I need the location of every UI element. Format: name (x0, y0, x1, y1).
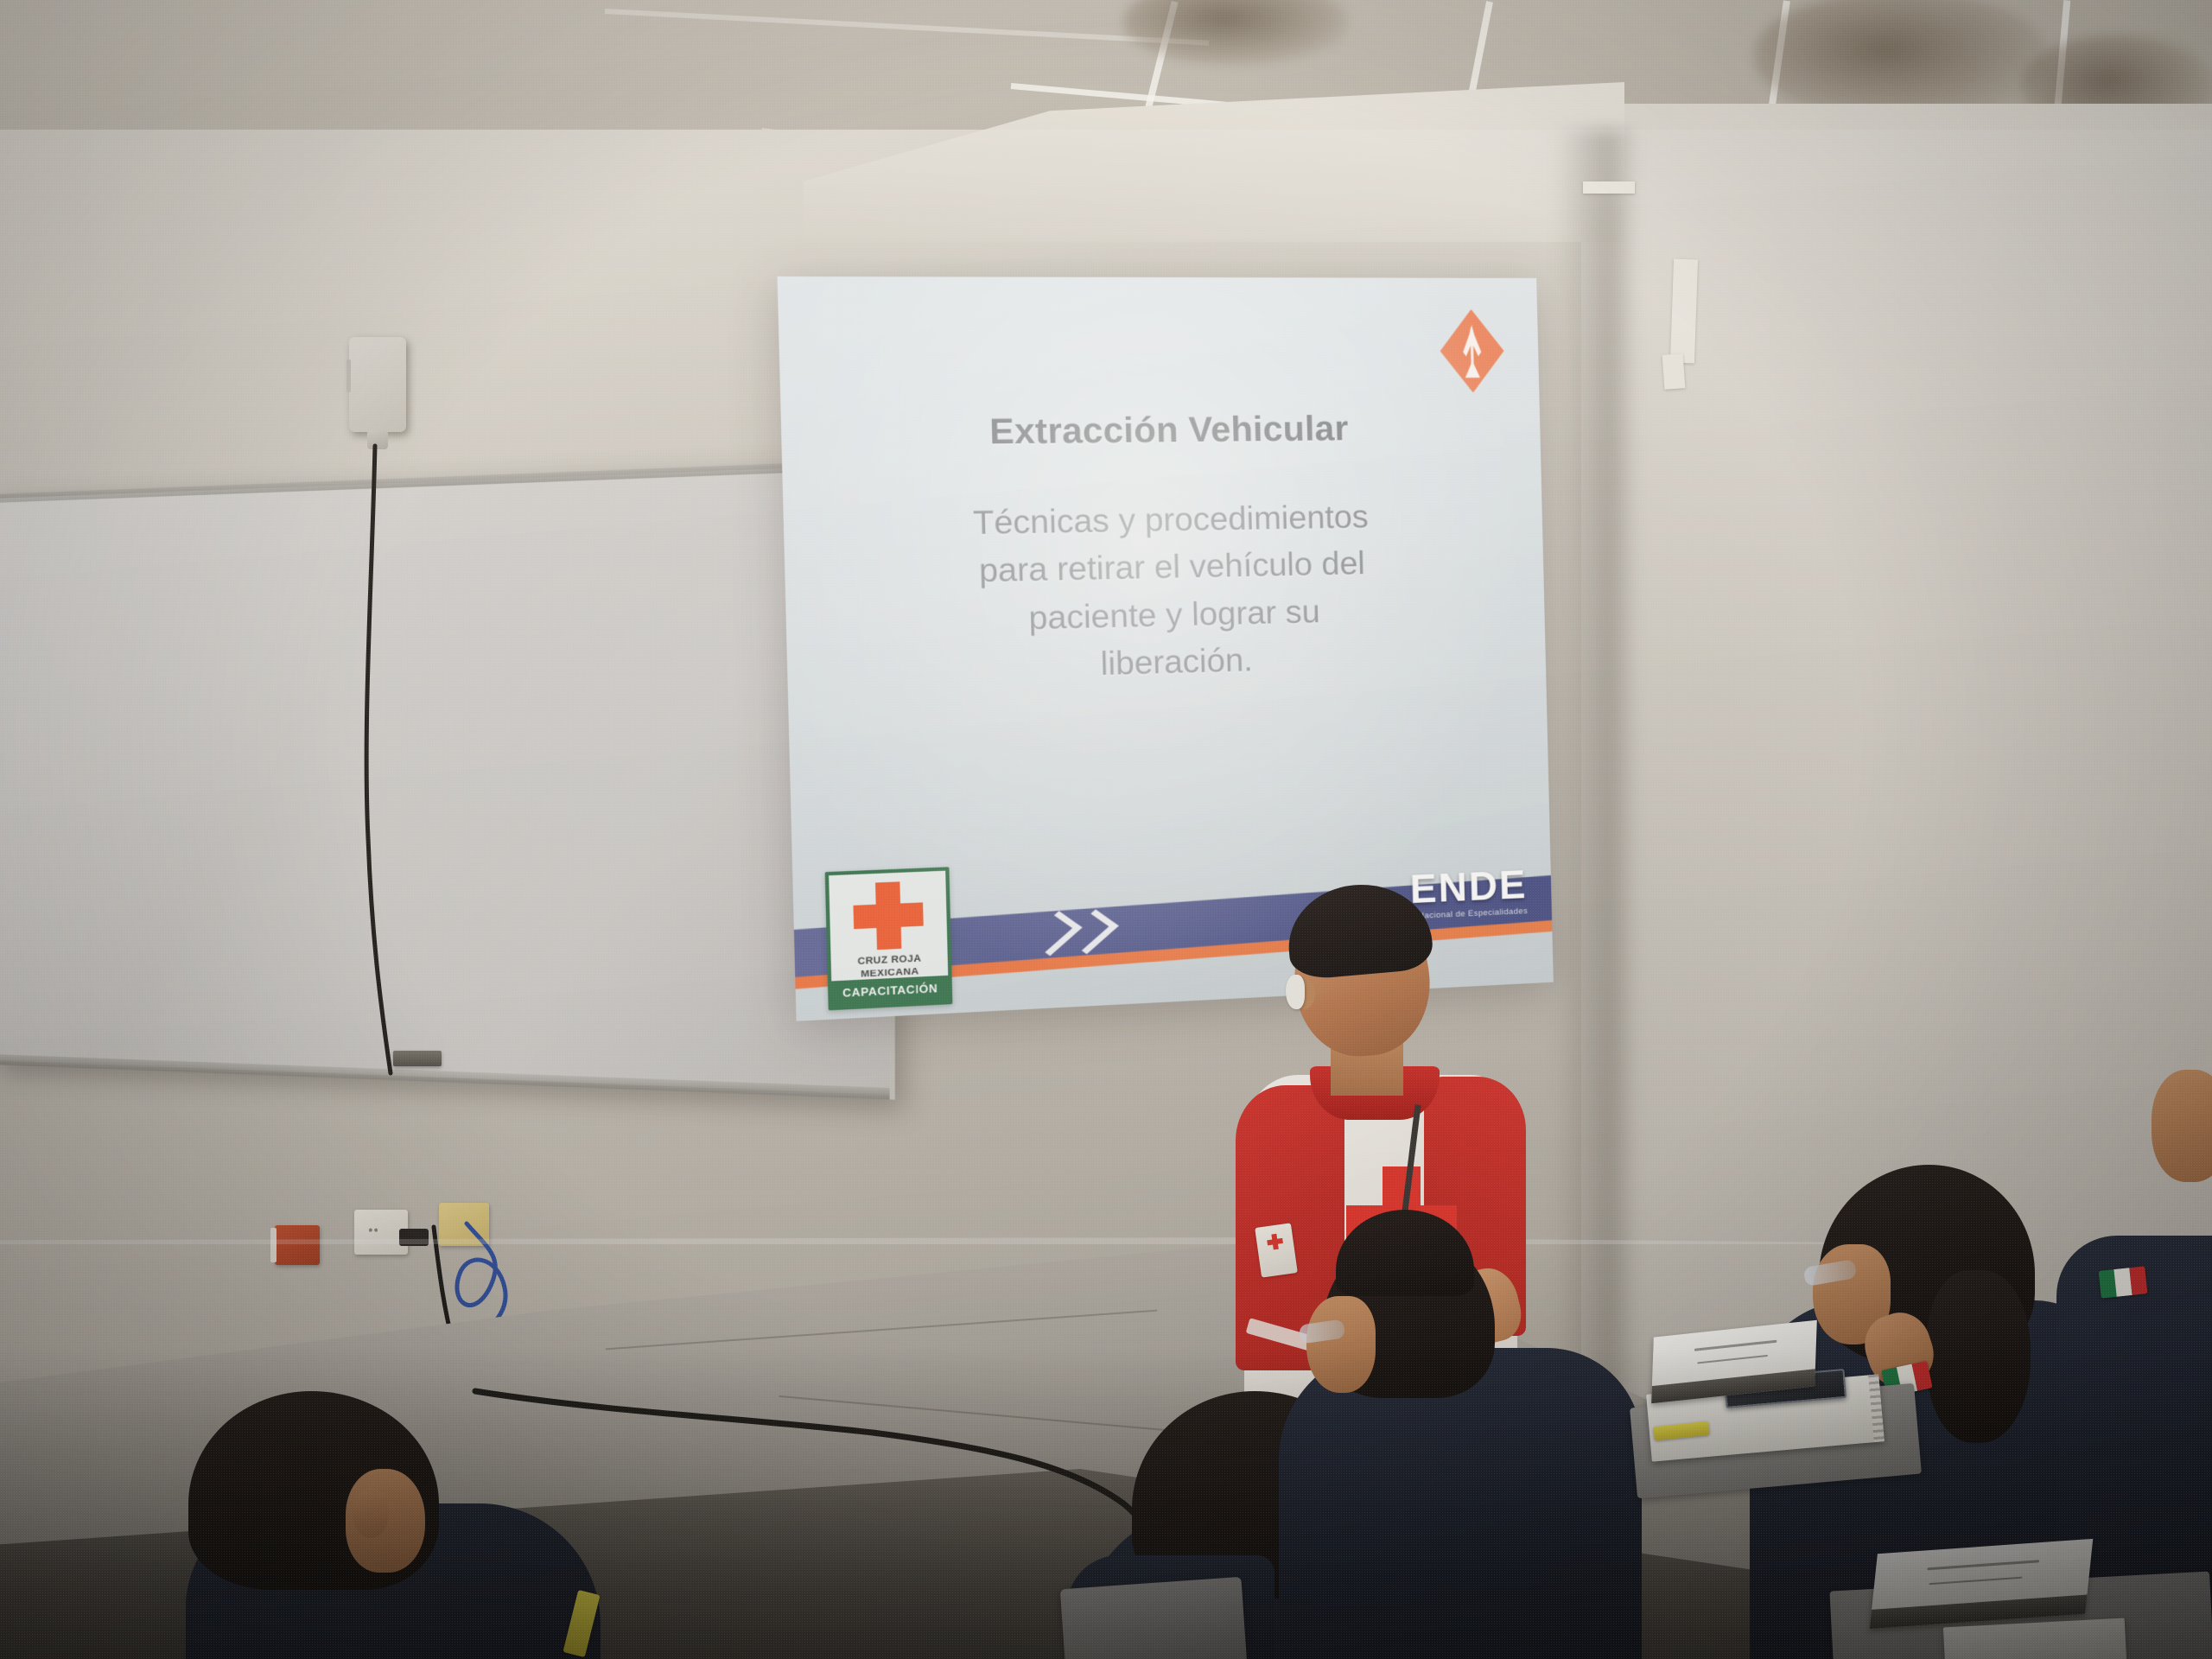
wall-paint-peel (1670, 259, 1698, 364)
rescue-diamond-icon (1439, 309, 1504, 393)
presenter-earpiece (1286, 975, 1305, 1009)
wall-paint-peel (1583, 181, 1635, 194)
classroom-scene: Extracción Vehicular Técnicas y procedim… (0, 0, 2212, 1659)
student-front-left-ear (353, 1488, 389, 1538)
name-tent-card (1870, 1539, 2094, 1629)
red-cross-icon (853, 880, 925, 950)
slide-body: Técnicas y procedimientos para retirar e… (842, 492, 1492, 695)
desk-surface (1060, 1577, 1247, 1659)
presenter-shoulder-patch (1255, 1223, 1298, 1277)
mexican-flag-patch (2098, 1266, 2147, 1298)
student-far-right-arm (2152, 1070, 2212, 1182)
wall-paint-peel (1662, 353, 1686, 390)
wall-corner-shadow (1555, 130, 1633, 1408)
ceiling-water-stain (1754, 0, 2048, 121)
wall-junction-box (349, 337, 406, 432)
org-tagline: CAPACITACIÓN (831, 976, 949, 1007)
student-center-face (1306, 1296, 1376, 1393)
student-right-ponytail (1927, 1270, 2031, 1443)
slide-title: Extracción Vehicular (781, 408, 1541, 454)
cruz-roja-logo: CRUZ ROJA MEXICANA CAPACITACIÓN (825, 867, 953, 1010)
outlet-red (275, 1225, 320, 1265)
presenter-hair (1284, 879, 1434, 981)
chevron-icon-group (1039, 905, 1160, 960)
student-center-body (1279, 1348, 1642, 1659)
projector-cable-upper (346, 432, 518, 1089)
